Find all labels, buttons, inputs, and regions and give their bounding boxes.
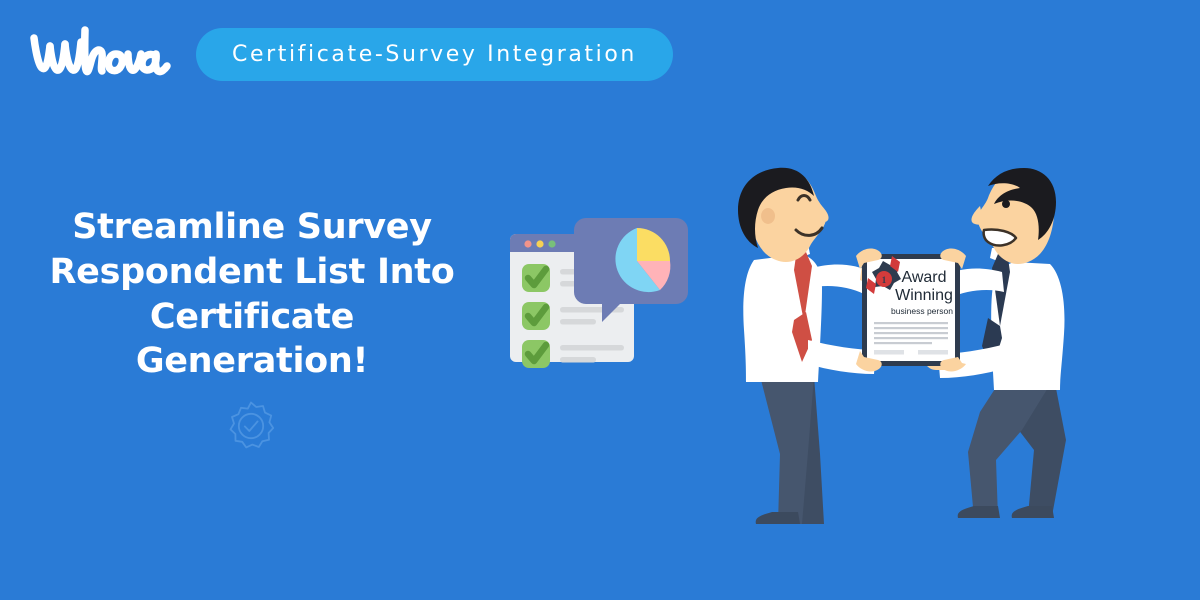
banner-header: Certificate-Survey Integration — [0, 0, 1200, 110]
two-people-holding-certificate: 1 Award Winning business person — [716, 160, 1096, 540]
page-title: Streamline Survey Respondent List Into C… — [28, 205, 476, 384]
person-right-eye — [1002, 200, 1010, 208]
headline-line-3: Certificate — [28, 295, 476, 340]
promo-banner: Certificate-Survey Integration Streamlin… — [0, 0, 1200, 600]
whova-logo-wordmark — [28, 24, 180, 82]
window-dot-red — [524, 240, 531, 247]
headline-line-4: Generation! — [28, 339, 476, 384]
svg-text:1: 1 — [882, 275, 887, 285]
window-dot-yellow — [536, 240, 543, 247]
certificate-subtitle: business person — [891, 306, 953, 316]
certificate-seal-icon — [224, 400, 278, 454]
integration-badge[interactable]: Certificate-Survey Integration — [196, 28, 673, 81]
person-right-shoe-front — [958, 506, 1000, 518]
whova-logo[interactable] — [28, 24, 180, 82]
headline-line-2: Respondent List Into — [28, 250, 476, 295]
person-left-shoe — [756, 512, 800, 524]
survey-results-illustration — [508, 208, 694, 388]
person-right-shoe-back — [1012, 506, 1054, 518]
person-left-ear — [761, 208, 775, 224]
headline-line-1: Streamline Survey — [28, 205, 476, 250]
certificate-title-line-2: Winning — [895, 287, 953, 304]
integration-badge-label: Certificate-Survey Integration — [232, 42, 637, 67]
window-dot-green — [548, 240, 555, 247]
certificate-title-line-1: Award — [901, 269, 946, 286]
award-certificate: 1 Award Winning business person — [862, 254, 960, 366]
